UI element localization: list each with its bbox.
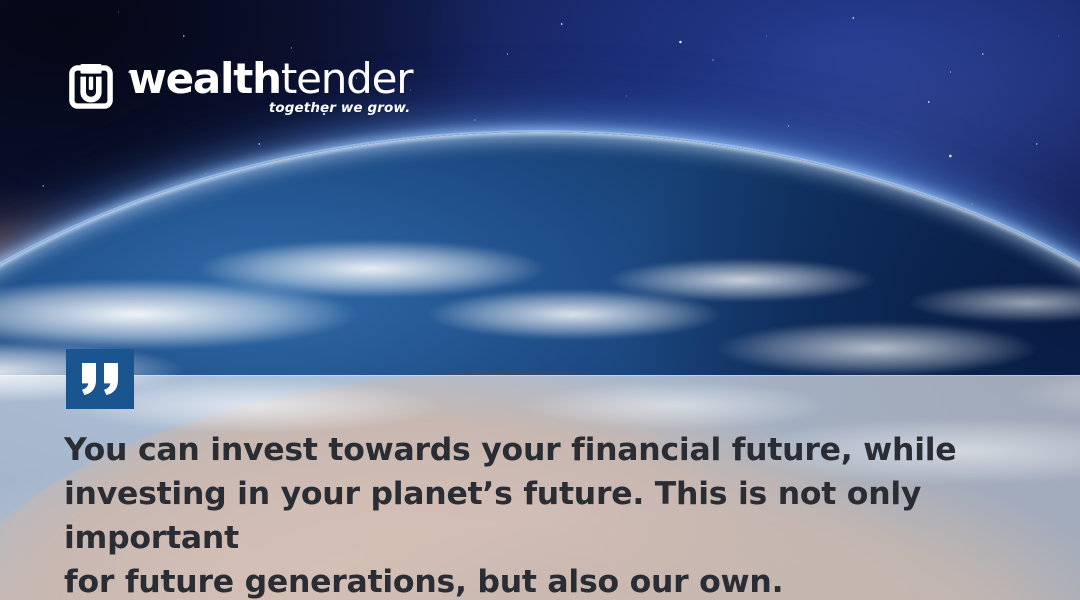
logo-tagline: together we grow. [269,102,411,116]
quote-text: You can invest towards your financial fu… [64,428,1032,600]
quote-card: wealthtender together we grow. You can i… [0,0,1080,600]
quote-mark-badge [66,349,134,409]
logo-wordmark: wealthtender together we grow. [128,58,412,100]
logo-word-bold: wealth [128,54,281,103]
wealthtender-monogram-icon [68,64,114,110]
wealthtender-logo[interactable]: wealthtender together we grow. [68,58,412,110]
open-quote-icon [78,363,122,395]
logo-word-light: tender [281,54,413,103]
logo-type: wealthtender [128,58,412,100]
